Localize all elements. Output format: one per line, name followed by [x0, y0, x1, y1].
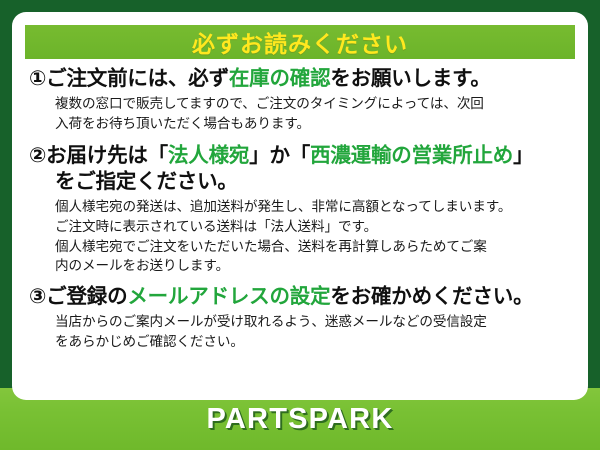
notice-heading-1-part-1: ご注文前には、必ず	[46, 67, 229, 90]
notice-body-3-line-2: をあらかじめご確認ください。	[55, 332, 573, 352]
notice-body-2-line-2: ご注文時に表示されている送料は「法人送料」です。	[55, 217, 573, 237]
notice-heading-3-accent: メールアドレスの設定	[127, 285, 330, 308]
notice-number-2: ②	[29, 144, 46, 167]
notice-heading-2: ②お届け先は「法人様宛」か「西濃運輸の営業所止め」	[29, 143, 573, 169]
notice-heading-1-accent: 在庫の確認	[229, 67, 331, 90]
notice-body-1-line-2: 入荷をお待ち頂いただく場合もあります。	[55, 114, 573, 134]
notice-item-2: ②お届け先は「法人様宛」か「西濃運輸の営業所止め」 をご指定ください。 個人様宅…	[29, 143, 573, 276]
notice-heading-2-line2: をご指定ください。	[29, 169, 573, 195]
notice-body-2-line-4: 内のメールをお送りします。	[55, 256, 573, 276]
notice-item-1: ①ご注文前には、必ず在庫の確認をお願いします。 複数の窓口で販売してますので、ご…	[29, 66, 573, 134]
notice-heading-2-part-5: 」	[513, 144, 533, 167]
notice-title-bar: 必ずお読みください	[25, 25, 575, 59]
notice-list: ①ご注文前には、必ず在庫の確認をお願いします。 複数の窓口で販売してますので、ご…	[25, 59, 575, 352]
brand-name: PARTSPARK	[207, 403, 394, 436]
notice-heading-1: ①ご注文前には、必ず在庫の確認をお願いします。	[29, 66, 573, 92]
notice-number-1: ①	[29, 67, 46, 90]
notice-body-2-line-3: 個人様宅宛でご注文をいただいた場合、送料を再計算しあらためてご案	[55, 237, 573, 257]
notice-body-3: 当店からのご案内メールが受け取れるよう、迷惑メールなどの受信設定 をあらかじめご…	[29, 312, 573, 351]
notice-body-1-line-1: 複数の窓口で販売してますので、ご注文のタイミングによっては、次回	[55, 94, 573, 114]
notice-panel: 必ずお読みください ①ご注文前には、必ず在庫の確認をお願いします。 複数の窓口で…	[12, 12, 588, 400]
notice-banner: PARTSPARK 必ずお読みください ①ご注文前には、必ず在庫の確認をお願いし…	[0, 0, 600, 450]
notice-heading-2-part-3: 」か「	[249, 144, 310, 167]
notice-heading-3-part-1: ご登録の	[46, 285, 127, 308]
notice-heading-2-line2-wrap: をご指定ください。	[29, 169, 573, 195]
notice-body-2: 個人様宅宛の発送は、追加送料が発生し、非常に高額となってしまいます。 ご注文時に…	[29, 197, 573, 276]
notice-heading-3: ③ご登録のメールアドレスの設定をお確かめください。	[29, 284, 573, 310]
notice-item-3: ③ご登録のメールアドレスの設定をお確かめください。 当店からのご案内メールが受け…	[29, 284, 573, 352]
notice-body-2-line-1: 個人様宅宛の発送は、追加送料が発生し、非常に高額となってしまいます。	[55, 197, 573, 217]
notice-heading-1-part-3: をお願いします。	[330, 67, 490, 90]
notice-heading-2-part-1: お届け先は「	[46, 144, 168, 167]
notice-body-3-line-1: 当店からのご案内メールが受け取れるよう、迷惑メールなどの受信設定	[55, 312, 573, 332]
notice-heading-2-accent-1: 法人様宛	[168, 144, 249, 167]
notice-number-3: ③	[29, 285, 46, 308]
page-title: 必ずお読みください	[192, 25, 408, 59]
notice-heading-2-accent-2: 西濃運輸の営業所止め	[310, 144, 513, 167]
notice-heading-3-part-3: をお確かめください。	[330, 285, 533, 308]
notice-body-1: 複数の窓口で販売してますので、ご注文のタイミングによっては、次回 入荷をお待ち頂…	[29, 94, 573, 133]
